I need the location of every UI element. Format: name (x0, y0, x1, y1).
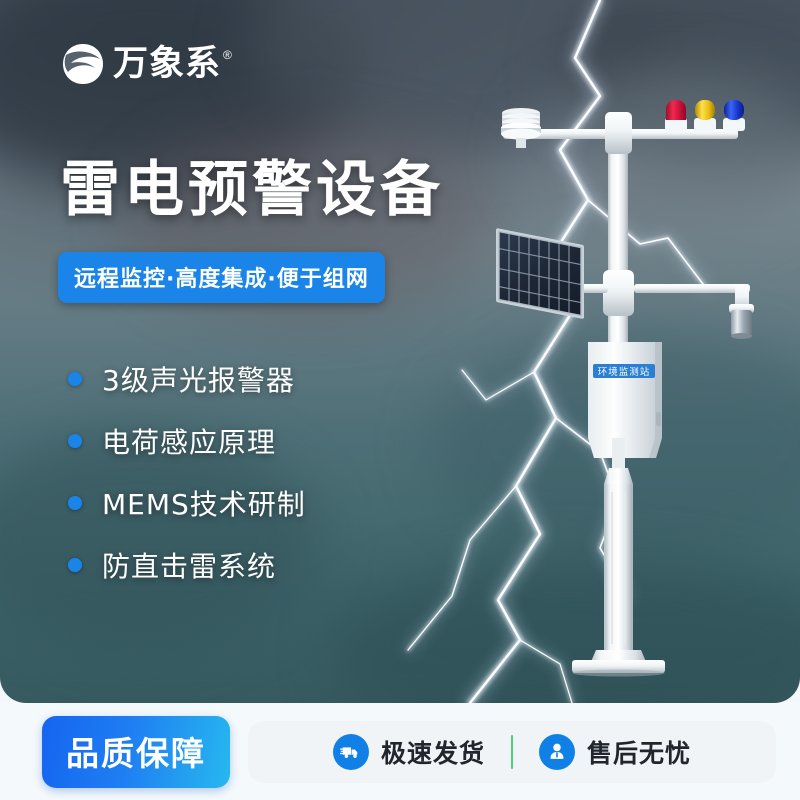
solar-panel (496, 228, 584, 319)
cabinet-label-plate (593, 364, 655, 378)
radiation-shield-sensor (501, 108, 541, 148)
cloud-blob (560, 0, 800, 170)
promo-page: 环境监测站 (0, 0, 800, 800)
lightning-main (470, 0, 600, 703)
solar-panel-arm (576, 284, 608, 293)
cabinet-label-text: 环境监测站 (598, 366, 651, 378)
feature-label: 3级声光报警器 (102, 359, 295, 399)
cross-arm-sensor (634, 284, 754, 339)
lightning-branch-2 (556, 418, 628, 596)
alarm-beacon-red (665, 100, 687, 131)
mid-arm-joint (603, 270, 634, 316)
feature-item: MEMS技术研制 (68, 472, 306, 534)
delivery-truck-icon (333, 734, 369, 770)
mast-upper (608, 120, 628, 420)
service-aftersales: 售后无忧 (539, 734, 691, 770)
bullet-dot-icon (68, 558, 82, 572)
bottom-service-bar: 品质保障 极速发货 (0, 703, 800, 800)
swirl-sphere-logo-icon (62, 42, 104, 86)
support-agent-icon (539, 734, 575, 770)
cloud-blob (430, 330, 800, 560)
mast-lower (604, 438, 633, 650)
cloud-blob (330, 560, 800, 703)
quality-badge: 品质保障 (42, 716, 230, 788)
registered-mark: ® (223, 48, 232, 62)
lightning-branch-5 (520, 640, 572, 703)
control-cabinet: 环境监测站 (588, 342, 662, 458)
feature-list: 3级声光报警器 电荷感应原理 MEMS技术研制 防直击雷系统 (68, 348, 306, 596)
lightning-branch-1 (588, 200, 706, 288)
brand-logo: 万象系 ® (62, 42, 232, 86)
cloud-blob (520, 70, 800, 240)
feature-label: MEMS技术研制 (102, 483, 306, 523)
bullet-dot-icon (68, 372, 82, 386)
page-title: 雷电预警设备 (60, 160, 444, 220)
feature-label: 防直击雷系统 (102, 545, 276, 585)
feature-item: 3级声光报警器 (68, 348, 306, 410)
service-label: 售后无忧 (587, 734, 691, 770)
feature-item: 电荷感应原理 (68, 410, 306, 472)
bullet-dot-icon (68, 434, 82, 448)
base-flange (572, 650, 665, 677)
lightning-branch-4 (462, 370, 534, 400)
subtitle-badge: 远程监控·高度集成·便于组网 (58, 252, 385, 303)
bullet-dot-icon (68, 496, 82, 510)
feature-item: 防直击雷系统 (68, 534, 306, 596)
service-divider (511, 735, 513, 769)
alarm-beacon-blue (723, 100, 745, 131)
lightning-branch-3 (408, 486, 516, 650)
service-badges: 极速发货 售后无忧 (248, 721, 776, 783)
cloud-blob (250, 0, 670, 150)
service-shipping: 极速发货 (333, 734, 485, 770)
service-label: 极速发货 (381, 734, 485, 770)
brand-name: 万象系 (113, 47, 221, 82)
feature-label: 电荷感应原理 (102, 421, 276, 461)
top-cross-arm (503, 112, 738, 154)
alarm-beacon-yellow (694, 100, 716, 131)
hero-banner: 环境监测站 (0, 0, 800, 703)
